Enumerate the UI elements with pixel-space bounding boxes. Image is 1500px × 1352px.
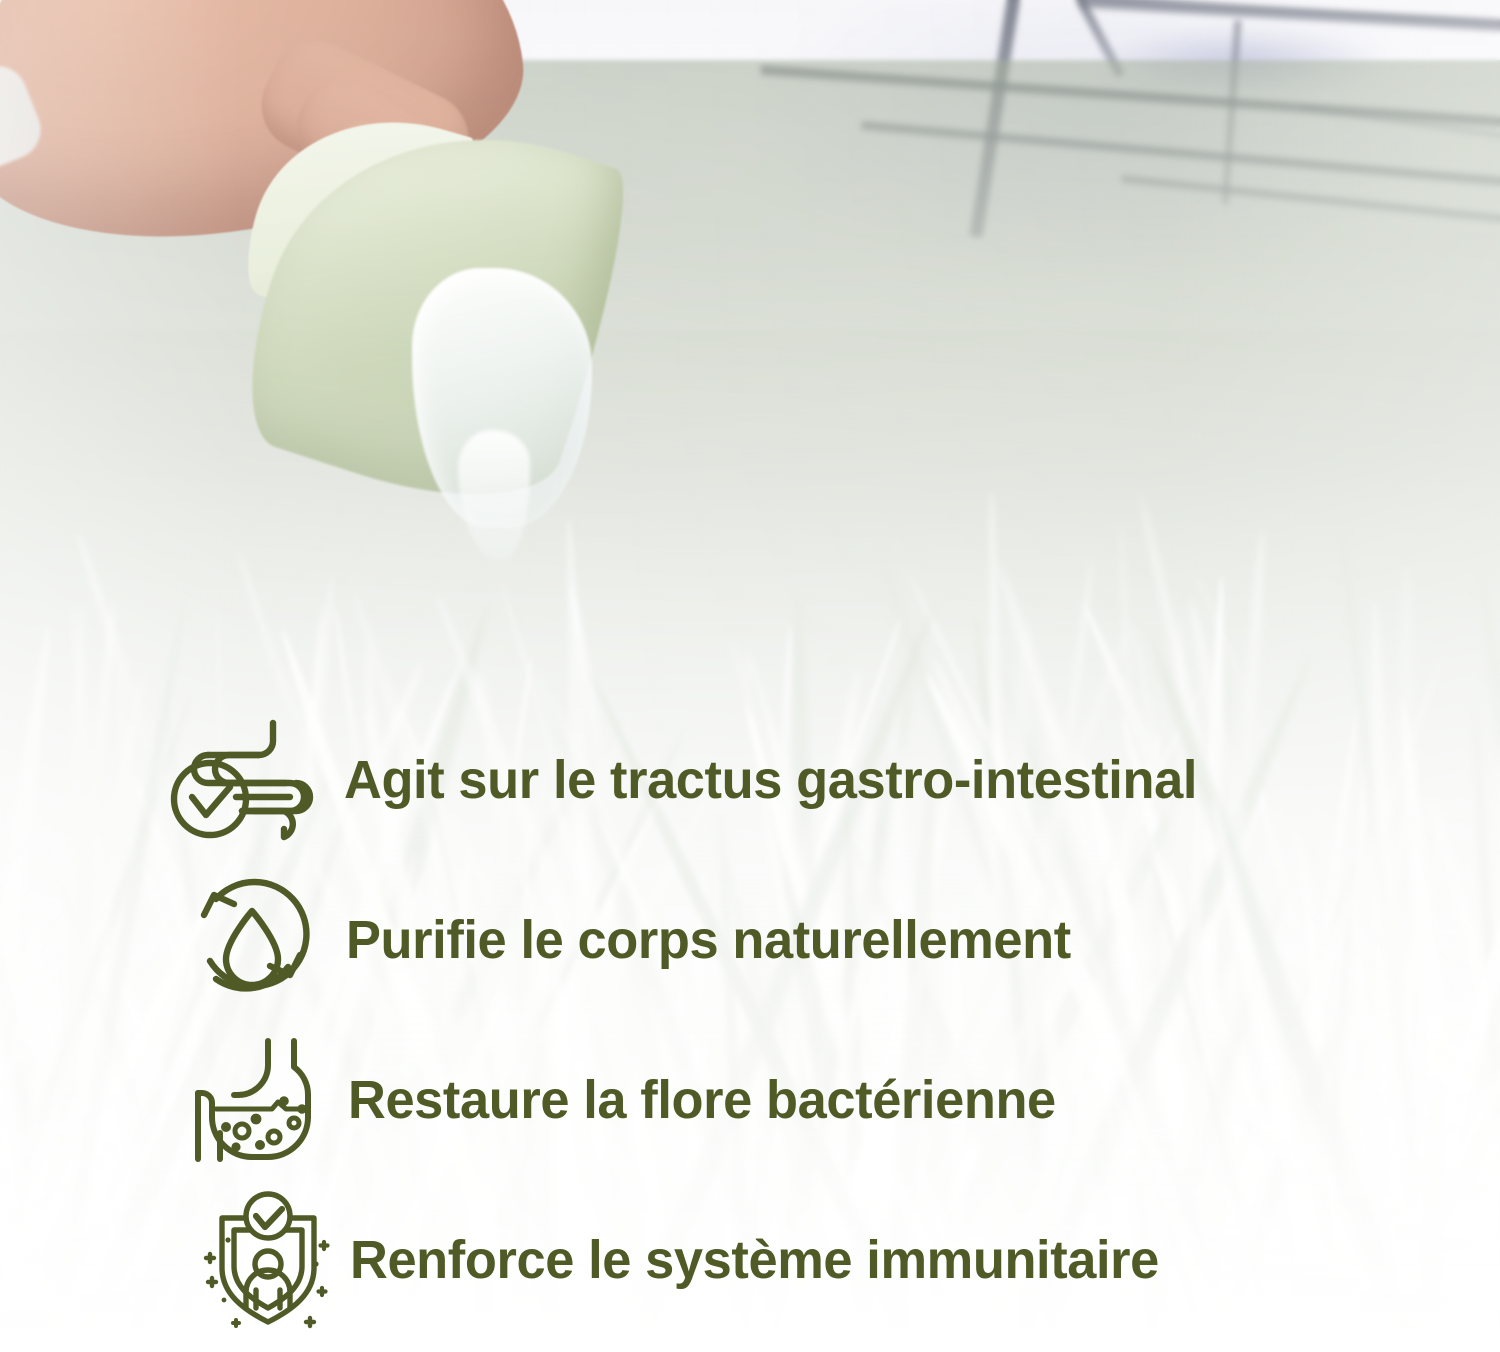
shield-person-check-icon <box>198 1196 348 1324</box>
benefit-item-immunitaire: Renforce le système immunitaire <box>0 1180 1500 1340</box>
poster-canvas: Agit sur le tractus gastro-intestinal Pu… <box>0 0 1500 1352</box>
benefit-label: Purifie le corps naturellement <box>346 913 1071 967</box>
hand-holding-aloe <box>0 0 620 490</box>
benefit-item-flore: Restaure la flore bactérienne <box>0 1020 1500 1180</box>
benefits-list: Agit sur le tractus gastro-intestinal Pu… <box>0 700 1500 1340</box>
benefit-label: Restaure la flore bactérienne <box>348 1073 1056 1127</box>
benefit-item-purifie: Purifie le corps naturellement <box>0 860 1500 1020</box>
intestine-check-icon <box>168 716 318 844</box>
benefit-label: Renforce le système immunitaire <box>350 1233 1159 1287</box>
benefit-item-gastro-intestinal: Agit sur le tractus gastro-intestinal <box>0 700 1500 860</box>
benefit-label: Agit sur le tractus gastro-intestinal <box>344 753 1197 807</box>
stomach-flora-icon <box>190 1036 340 1164</box>
water-drop-recycle-icon <box>182 876 332 1004</box>
